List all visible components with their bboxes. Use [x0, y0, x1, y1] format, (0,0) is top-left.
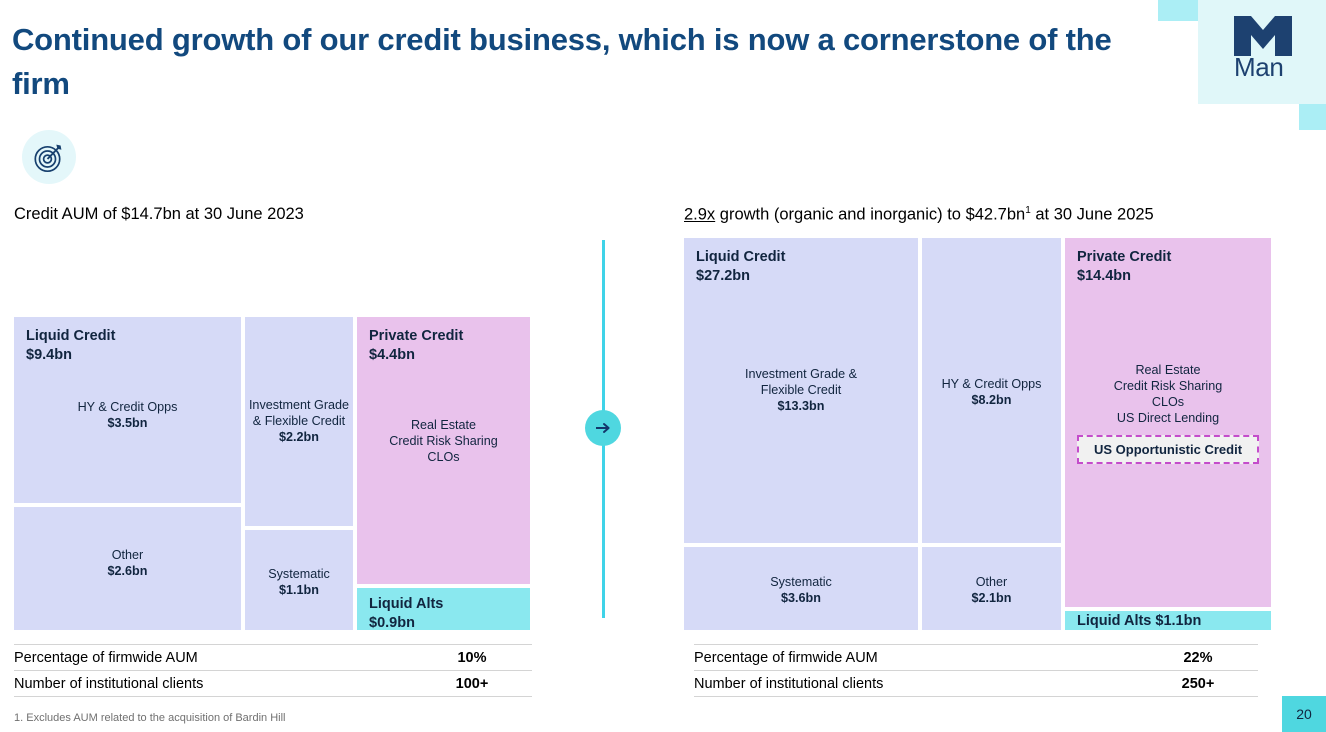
hy-value: $3.5bn: [108, 416, 148, 430]
logo-wordmark: Man: [1234, 54, 1298, 80]
right-panel-heading: 2.9x growth (organic and inorganic) to $…: [684, 204, 1271, 226]
us-opportunistic-credit-highlight: US Opportunistic Credit: [1077, 435, 1259, 464]
tile-other-2025-label: Other $2.1bn: [922, 574, 1061, 606]
tile-systematic-2023: Systematic $1.1bn: [245, 530, 353, 630]
footnote: 1. Excludes AUM related to the acquisiti…: [14, 712, 285, 724]
tile-liquid-alts-head-2025: Liquid Alts $1.1bn: [1077, 612, 1259, 630]
other-value: $2.6bn: [108, 564, 148, 578]
tile-liquid-credit-2025: Liquid Credit $27.2bn Investment Grade &…: [684, 238, 918, 543]
growth-multiple: 2.9x: [684, 206, 715, 224]
tile-liquid-credit-head-2025: Liquid Credit $27.2bn: [696, 248, 906, 285]
tile-hy-credit-opps-2023-label: HY & Credit Opps $3.5bn: [14, 399, 241, 431]
treemap-2023: Liquid Credit $9.4bn HY & Credit Opps $3…: [14, 317, 530, 630]
other-label: Other: [112, 548, 144, 562]
systematic-value: $1.1bn: [279, 583, 319, 597]
tile-liquid-alts-2025: Liquid Alts $1.1bn: [1065, 611, 1271, 630]
tile-systematic-2023-label: Systematic $1.1bn: [245, 566, 353, 598]
man-m-logo-icon: [1234, 16, 1292, 56]
stats-table-2025: Percentage of firmwide AUM 22% Number of…: [694, 644, 1258, 697]
tile-hy-credit-opps-2025: HY & Credit Opps $8.2bn: [922, 238, 1061, 543]
tile-hy-credit-opps-2025-label: HY & Credit Opps $8.2bn: [922, 376, 1061, 408]
tile-investment-grade-2025-label: Investment Grade & Flexible Credit $13.3…: [684, 366, 918, 414]
right-panel-heading-wrap: 2.9x growth (organic and inorganic) to $…: [684, 204, 1271, 226]
tile-private-credit-head: Private Credit $4.4bn: [369, 327, 518, 364]
other-label-2025: Other: [976, 575, 1008, 589]
logo-accent-square-top-left: [1158, 0, 1201, 21]
target-bullseye-icon: [22, 130, 76, 184]
stat-value: 100+: [412, 676, 532, 692]
right-heading-suffix: at 30 June 2025: [1031, 206, 1154, 224]
tile-liquid-credit-2023: Liquid Credit $9.4bn HY & Credit Opps $3…: [14, 317, 241, 503]
page-number-badge: 20: [1282, 696, 1326, 732]
table-row: Percentage of firmwide AUM 22%: [694, 644, 1258, 670]
tile-other-2023-label: Other $2.6bn: [14, 547, 241, 579]
tile-private-credit-head-2025: Private Credit $14.4bn: [1077, 248, 1259, 285]
stat-label: Percentage of firmwide AUM: [694, 650, 878, 666]
stat-value: 10%: [412, 650, 532, 666]
ig-value-2025: $13.3bn: [778, 399, 825, 413]
arrow-right-icon: [594, 419, 612, 437]
table-row: Percentage of firmwide AUM 10%: [14, 644, 532, 670]
hy-label-2025: HY & Credit Opps: [942, 377, 1042, 391]
tile-systematic-2025: Systematic $3.6bn: [684, 547, 918, 630]
tile-liquid-alts-2023: Liquid Alts $0.9bn: [357, 588, 530, 630]
systematic-label-2025: Systematic: [770, 575, 832, 589]
systematic-label: Systematic: [268, 567, 330, 581]
logo-panel: Man: [1198, 0, 1326, 104]
tile-investment-grade-2023: Investment Grade & Flexible Credit $2.2b…: [245, 317, 353, 526]
tile-private-credit-2025: Private Credit $14.4bn Real Estate Credi…: [1065, 238, 1271, 607]
page-title: Continued growth of our credit business,…: [12, 18, 1112, 106]
right-heading-rest: growth (organic and inorganic) to $42.7b…: [715, 206, 1025, 224]
stats-table-2023: Percentage of firmwide AUM 10% Number of…: [14, 644, 532, 697]
left-panel-heading-wrap: Credit AUM of $14.7bn at 30 June 2023: [14, 204, 532, 225]
tile-private-credit-2023: Private Credit $4.4bn Real Estate Credit…: [357, 317, 530, 584]
stat-label: Number of institutional clients: [14, 676, 203, 692]
hy-label: HY & Credit Opps: [78, 400, 178, 414]
left-panel-heading: Credit AUM of $14.7bn at 30 June 2023: [14, 204, 532, 225]
other-value-2025: $2.1bn: [972, 591, 1012, 605]
treemap-2025: Liquid Credit $27.2bn Investment Grade &…: [684, 238, 1271, 630]
systematic-value-2025: $3.6bn: [781, 591, 821, 605]
stat-label: Percentage of firmwide AUM: [14, 650, 198, 666]
tile-systematic-2025-label: Systematic $3.6bn: [684, 574, 918, 606]
growth-arrow-badge: [585, 410, 621, 446]
tile-liquid-alts-head: Liquid Alts $0.9bn: [369, 595, 518, 630]
stat-label: Number of institutional clients: [694, 676, 883, 692]
ig-label: Investment Grade & Flexible Credit: [249, 398, 349, 428]
ig-value: $2.2bn: [279, 430, 319, 444]
ig-label-2025: Investment Grade & Flexible Credit: [745, 367, 857, 397]
table-row: Number of institutional clients 100+: [14, 670, 532, 697]
logo-accent-square-bottom-right: [1299, 104, 1326, 130]
table-row: Number of institutional clients 250+: [694, 670, 1258, 697]
stat-value: 250+: [1138, 676, 1258, 692]
tile-private-credit-2025-strategies: Real Estate Credit Risk Sharing CLOs US …: [1065, 362, 1271, 426]
hy-value-2025: $8.2bn: [972, 393, 1012, 407]
stat-value: 22%: [1138, 650, 1258, 666]
tile-other-2023: Other $2.6bn: [14, 507, 241, 630]
tile-private-credit-2023-strategies: Real Estate Credit Risk Sharing CLOs: [357, 417, 530, 465]
tile-liquid-credit-head: Liquid Credit $9.4bn: [26, 327, 229, 364]
tile-other-2025: Other $2.1bn: [922, 547, 1061, 630]
tile-investment-grade-2023-label: Investment Grade & Flexible Credit $2.2b…: [245, 397, 353, 445]
